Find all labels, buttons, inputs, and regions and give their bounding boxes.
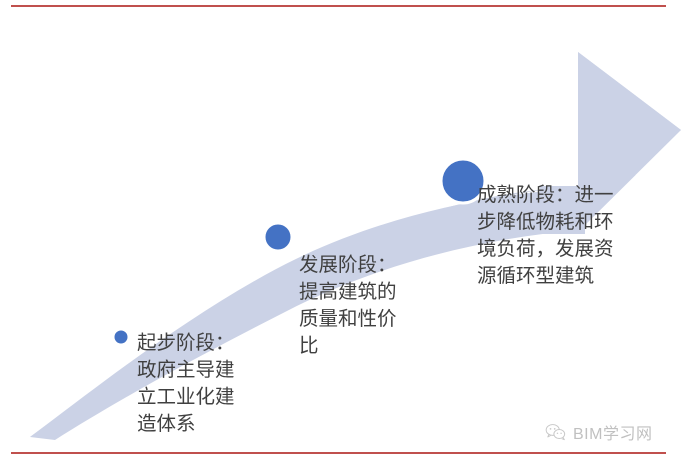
figure-canvas: 起步阶段： 政府主导建 立工业化建 造体系 发展阶段： 提高建筑的 质量和性价 …: [0, 0, 697, 466]
bottom-divider-line: [11, 452, 666, 454]
wechat-icon: [545, 423, 567, 441]
stage-marker-1[interactable]: [113, 329, 129, 345]
watermark-label: BIM学习网: [573, 420, 652, 444]
watermark: BIM学习网: [545, 420, 652, 444]
stage-marker-2[interactable]: [264, 223, 292, 251]
stage-label-startup: 起步阶段： 政府主导建 立工业化建 造体系: [137, 330, 267, 438]
stage-label-maturity: 成熟阶段：进一 步降低物耗和环 境负荷，发展资 源循环型建筑: [477, 182, 677, 290]
stage-label-development: 发展阶段： 提高建筑的 质量和性价 比: [299, 252, 429, 360]
